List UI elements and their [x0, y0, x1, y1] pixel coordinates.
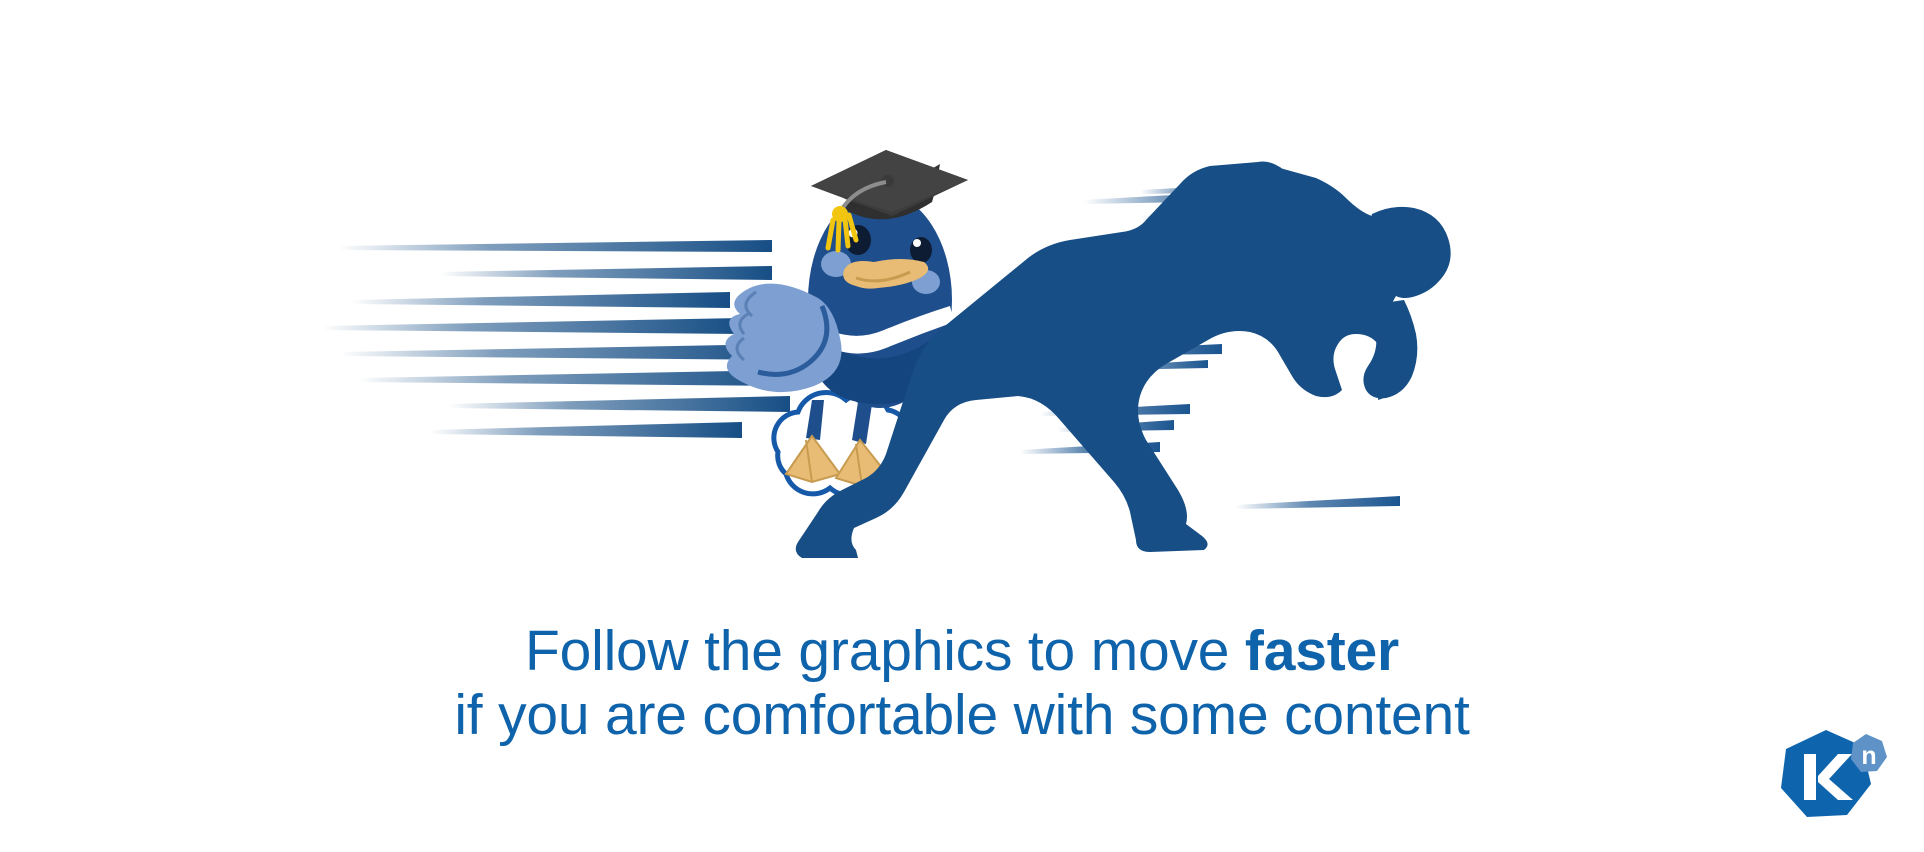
runner-rear-arm [1362, 300, 1417, 398]
speed-line [338, 240, 772, 252]
graphics-illustration [0, 0, 1924, 560]
illustration-svg [0, 0, 1924, 560]
eye-right [910, 237, 932, 263]
caption-emphasis-faster: faster [1245, 619, 1399, 683]
speed-line [440, 266, 772, 280]
speed-lines-bird-group [322, 240, 790, 438]
caption-line-1: Follow the graphics to move faster [0, 620, 1924, 684]
speed-line [352, 292, 730, 308]
caption-line-1-prefix: Follow the graphics to move [525, 619, 1245, 683]
caption-line-2: if you are comfortable with some content [0, 684, 1924, 748]
knowledge-n-logo[interactable]: n [1776, 724, 1896, 834]
logo-letter-n: n [1861, 742, 1876, 770]
caption-text: Follow the graphics to move faster if yo… [0, 620, 1924, 748]
speed-line [1235, 496, 1400, 509]
graduate-bird [725, 150, 968, 495]
eye-right-highlight [913, 239, 921, 247]
speed-line [358, 370, 790, 386]
logo-svg: n [1776, 724, 1896, 834]
speed-line [430, 422, 742, 438]
speed-line [322, 318, 742, 334]
speed-line [448, 396, 790, 412]
speed-line [340, 344, 786, 360]
slide-canvas: Follow the graphics to move faster if yo… [0, 0, 1924, 852]
